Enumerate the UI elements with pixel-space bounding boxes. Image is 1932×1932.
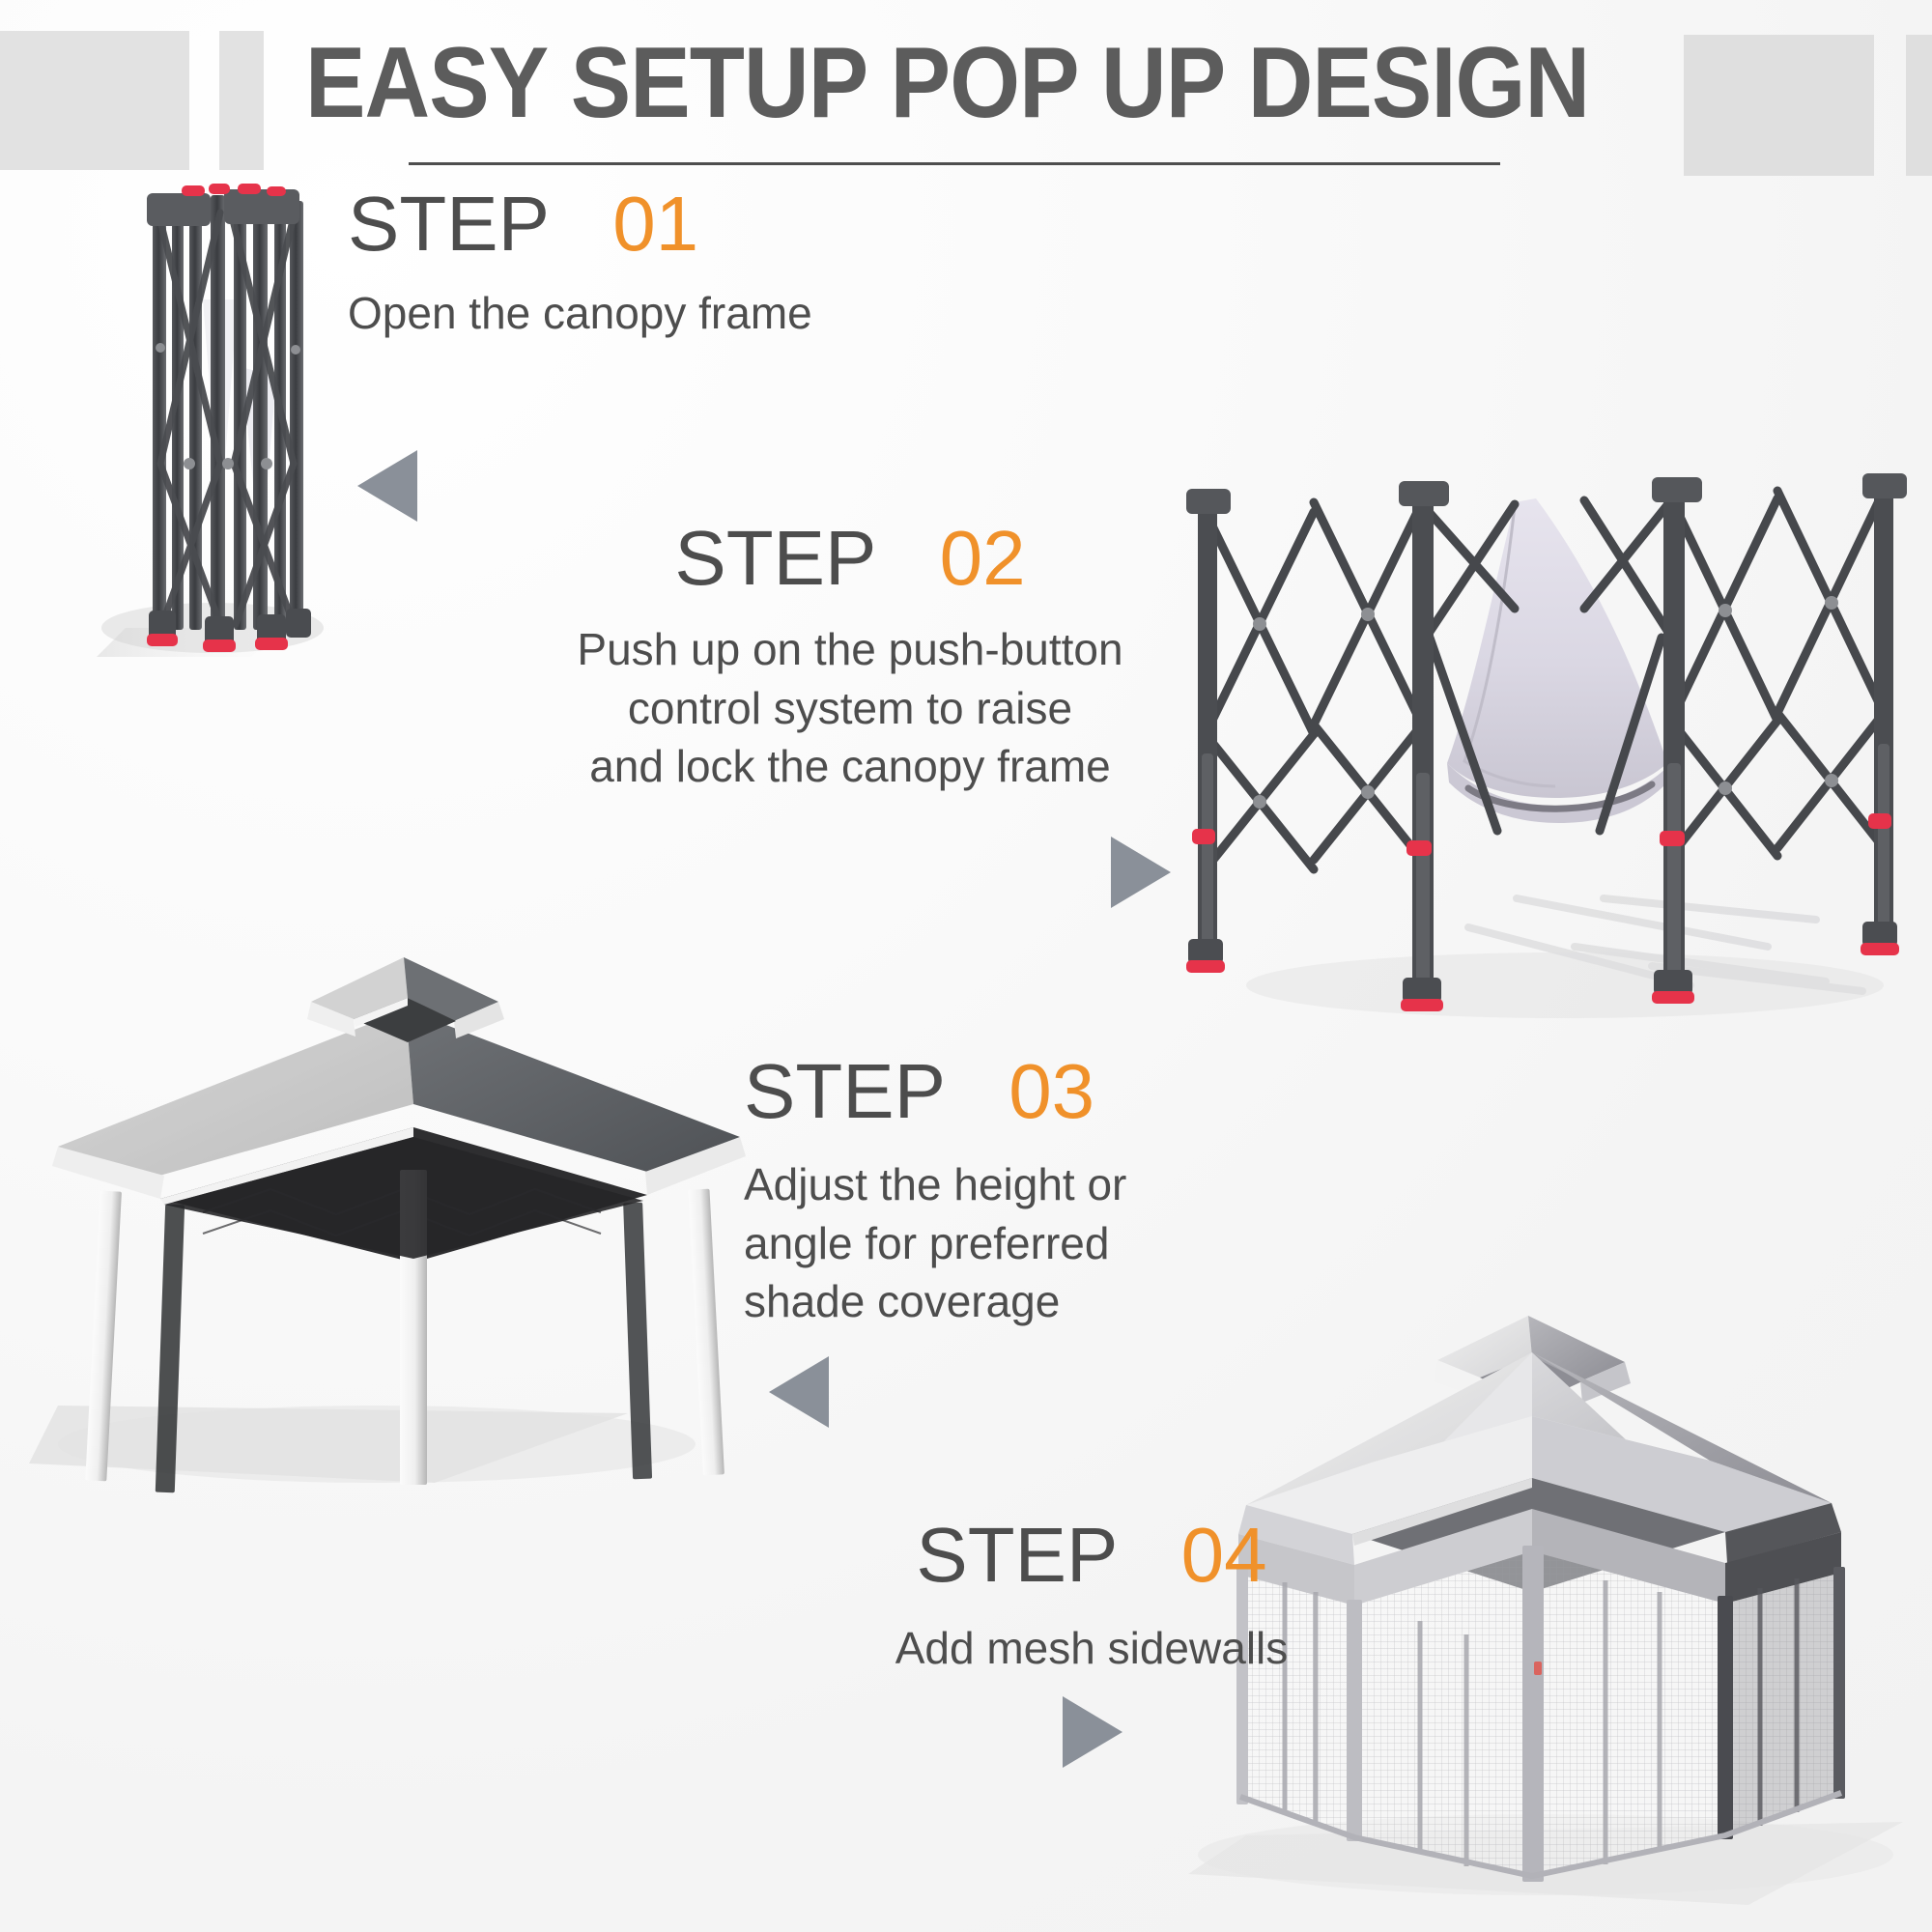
step-02-block: STEP 02 Push up on the push-button contr… (502, 520, 1198, 796)
arrow-right-icon-step-04 (1063, 1696, 1122, 1768)
step-02-body-line-3: and lock the canopy frame (502, 737, 1198, 796)
header-decor-right-bar (1906, 35, 1932, 176)
expanded-scissor-frame-image (1150, 444, 1913, 1043)
arrow-left-icon-step-03 (769, 1356, 829, 1428)
step-02-body-line-1: Push up on the push-button (502, 620, 1198, 679)
step-02-heading: STEP 02 (502, 520, 1198, 597)
step-01-block: STEP 01 Open the canopy frame (348, 185, 1082, 343)
step-03-heading: STEP 03 (744, 1053, 1246, 1130)
step-01-label: STEP (348, 181, 549, 267)
step-02-body: Push up on the push-button control syste… (502, 620, 1198, 796)
step-02-number: 02 (940, 515, 1026, 601)
step-02-label: STEP (674, 515, 875, 601)
step-03-label: STEP (744, 1048, 945, 1134)
header-decor-right-block (1684, 35, 1874, 176)
step-04-body: Add mesh sidewalls (821, 1619, 1362, 1678)
assembled-gazebo-image (29, 923, 763, 1512)
step-04-label: STEP (916, 1512, 1117, 1598)
header-decor-left-block (0, 31, 189, 170)
arrow-right-icon-step-02 (1111, 837, 1171, 908)
step-01-heading: STEP 01 (348, 185, 1082, 263)
arrow-left-icon-step-01 (357, 450, 417, 522)
infographic-canvas: EASY SETUP POP UP DESIGN (0, 0, 1932, 1932)
step-03-number: 03 (1009, 1048, 1094, 1134)
step-04-number: 04 (1181, 1512, 1267, 1598)
header-decor-left-bar (219, 31, 264, 170)
step-02-body-line-2: control system to raise (502, 679, 1198, 738)
step-01-body: Open the canopy frame (348, 284, 1082, 343)
title-divider (409, 162, 1500, 165)
folded-canopy-frame-image (97, 174, 386, 676)
step-04-heading: STEP 04 (821, 1517, 1362, 1594)
step-04-block: STEP 04 Add mesh sidewalls (821, 1517, 1362, 1678)
page-title: EASY SETUP POP UP DESIGN (305, 33, 1540, 133)
step-03-body-line-1: Adjust the height or (744, 1155, 1246, 1214)
step-01-number: 01 (612, 181, 698, 267)
